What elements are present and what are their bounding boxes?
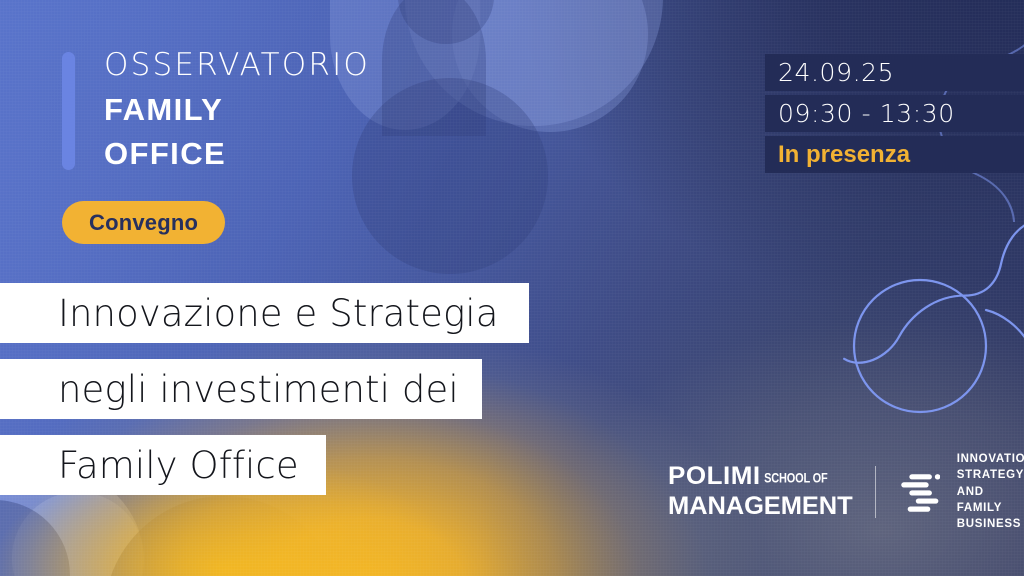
decorative-blob-dark-top	[352, 78, 548, 274]
page-title: Innovazione e Strategia negli investimen…	[0, 283, 529, 495]
stacked-bars-dot-icon	[898, 467, 940, 517]
brand-lockup: OSSERVATORIO FAMILY OFFICE	[104, 50, 370, 169]
event-details-strip: 24.09.25 09:30 - 13:30 In presenza	[765, 54, 1024, 173]
decorative-blob-bottomleft-dark-small	[0, 500, 70, 576]
decorative-blob-dark-neck	[382, 0, 486, 136]
polimi-school-of-label: SCHOOL OF	[764, 473, 827, 487]
event-date: 24.09.25	[765, 54, 1024, 91]
isfb-line-2: STRATEGY AND	[957, 467, 1024, 500]
isfb-line-3: FAMILY BUSINESS	[957, 500, 1024, 533]
decorative-blob-light-top-small	[452, 0, 648, 132]
event-type-badge: Convegno	[62, 201, 225, 244]
brand-line-osservatorio: OSSERVATORIO	[104, 50, 370, 81]
polimi-school-of-management-logo: POLIMI SCHOOL OF MANAGEMENT	[668, 464, 849, 519]
logo-divider	[875, 466, 876, 518]
title-line-3: Family Office	[0, 435, 326, 495]
event-time: 09:30 - 13:30	[765, 95, 1024, 132]
brand-line-family: FAMILY	[104, 94, 370, 125]
decorative-blob-light-top	[405, 0, 663, 126]
title-line-1: Innovazione e Strategia	[0, 283, 529, 343]
decorative-blob-bottomleft-light-small	[12, 492, 144, 576]
event-poster: OSSERVATORIO FAMILY OFFICE Convegno 24.0…	[0, 0, 1024, 576]
title-line-2: negli investimenti dei	[0, 359, 482, 419]
event-mode: In presenza	[765, 136, 1024, 173]
brand-line-office: OFFICE	[104, 138, 370, 169]
logo-row: POLIMI SCHOOL OF MANAGEMENT INNOVATION, …	[668, 451, 1024, 533]
decorative-blob-bottomleft-dark	[104, 496, 344, 576]
accent-bar-icon	[62, 52, 75, 170]
isfb-line-1: INNOVATION,	[957, 451, 1024, 467]
polimi-wordmark: POLIMI	[668, 464, 761, 489]
isfb-wordmark: INNOVATION, STRATEGY AND FAMILY BUSINESS	[957, 451, 1024, 533]
polimi-management-label: MANAGEMENT	[668, 494, 853, 519]
decorative-outline-metaball	[842, 222, 1024, 437]
decorative-blob-dark-small	[398, 0, 494, 44]
innovation-strategy-family-business-logo: INNOVATION, STRATEGY AND FAMILY BUSINESS	[898, 451, 1024, 533]
